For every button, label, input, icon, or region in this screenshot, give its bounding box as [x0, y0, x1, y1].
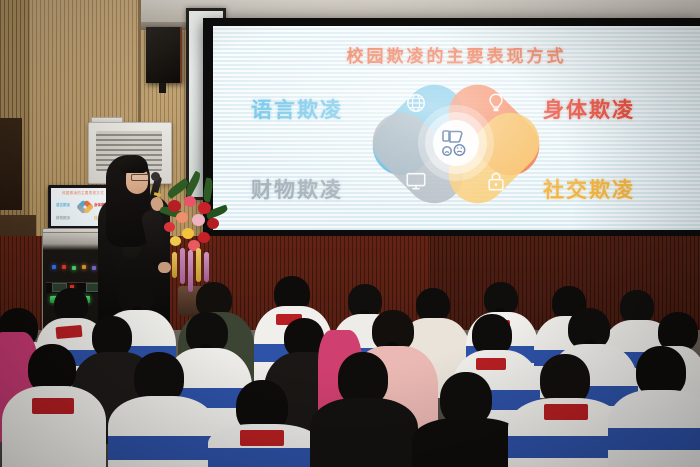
microphone-head	[151, 172, 160, 181]
presenter-hair-front	[120, 155, 148, 173]
lightbulb-icon	[485, 92, 507, 114]
slide-label-verbal: 语言欺凌	[251, 94, 343, 124]
rack-led-violet	[92, 266, 96, 270]
presentation-photo: 校园欺凌的主要表现方式 语言欺凌 身体欺凌 财物欺凌 社交欺凌	[0, 0, 700, 467]
rack-led-green	[72, 266, 76, 270]
slide-label-physical: 身体欺凌	[543, 94, 635, 124]
slide-label-property: 财物欺凌	[251, 174, 343, 204]
glasses-icon	[131, 174, 150, 181]
slide-title: 校园欺凌的主要表现方式	[213, 42, 700, 67]
slide-label-social: 社交欺凌	[543, 174, 635, 204]
lock-icon	[485, 170, 507, 192]
monitor-icon	[405, 170, 427, 192]
speaker-mount	[159, 83, 166, 93]
flower-arrangement	[162, 182, 232, 300]
projection-screen: 校园欺凌的主要表现方式 语言欺凌 身体欺凌 财物欺凌 社交欺凌	[213, 26, 700, 230]
x-diagram-center-disc	[433, 120, 479, 166]
x-diagram	[381, 74, 531, 210]
monitor-label-property: 财物欺凌	[56, 216, 70, 221]
rack-led-red	[62, 265, 66, 269]
thumbs-down-sad-face-icon	[439, 127, 473, 159]
left-wall-niche	[0, 118, 22, 210]
rack-led-orange	[82, 265, 86, 269]
rack-led-blue	[52, 265, 56, 269]
monitor-x-diagram	[78, 200, 92, 214]
monitor-label-verbal: 语言欺凌	[56, 203, 70, 208]
wall-speaker-icon	[146, 27, 182, 83]
globe-icon	[405, 92, 427, 114]
